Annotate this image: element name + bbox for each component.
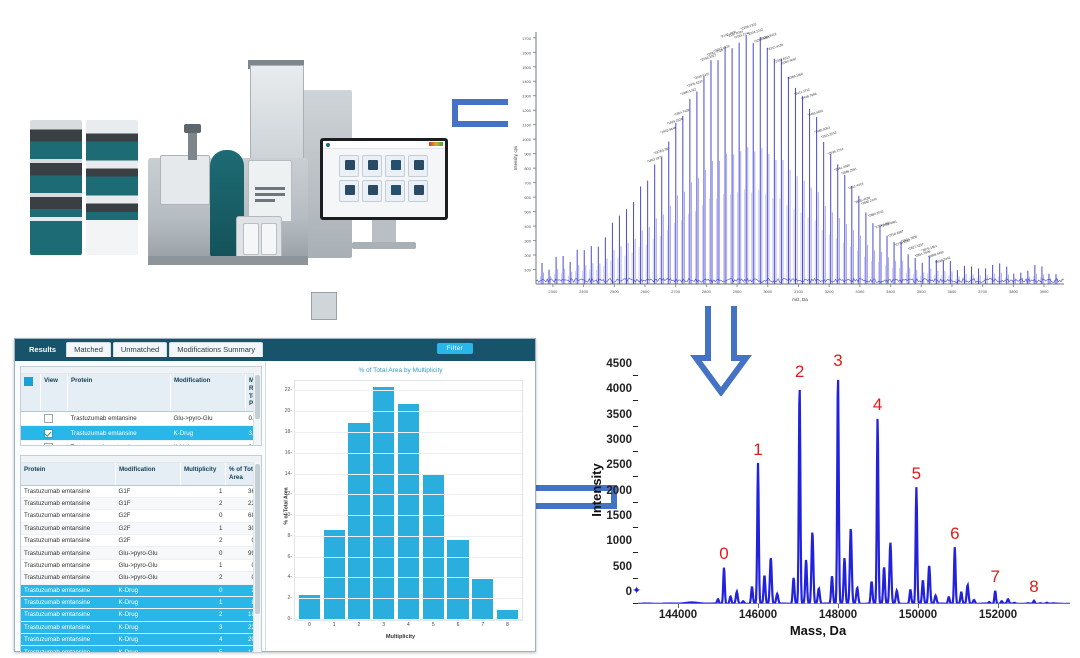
cell-multiplicity: 3 <box>181 621 226 633</box>
y-tick: 300 <box>524 239 531 244</box>
cell-protein: Trastuzumab emtansine <box>21 559 116 571</box>
cell-modification: G1F <box>116 485 181 497</box>
mass-spectrum-y-tick: 1500 <box>606 510 632 522</box>
table-row[interactable]: Trastuzumab emtansineK-Drug02.451.31e4 <box>21 584 262 596</box>
bar-chart-gridline: 16- <box>295 453 522 454</box>
lc-ms-instrument-photo <box>20 30 450 295</box>
peak-annotation: *1954.7428 <box>673 108 690 117</box>
col-modification[interactable]: Modification <box>116 463 181 485</box>
peak-label-3: 3 <box>833 351 842 371</box>
deconvoluted-mass-spectrum: Intensity 050010001500200025003000350040… <box>560 352 1076 652</box>
x-tick-mark <box>678 604 679 608</box>
y-tick: 700 <box>524 181 531 186</box>
peak-annotation: *2536.3714 <box>827 147 844 156</box>
x-tick: 3700 <box>978 289 988 294</box>
cell-modification: K-Drug <box>116 596 181 608</box>
cell-multiplicity: 2 <box>181 535 226 547</box>
peak-annotation: *2310.4135 <box>767 43 784 52</box>
x-tick-mark <box>838 604 839 608</box>
x-tick-mark <box>758 604 759 608</box>
y-tick: 1200 <box>522 108 532 113</box>
bar-chart-gridline: 22- <box>295 390 522 391</box>
cell-multiplicity: 2 <box>181 572 226 584</box>
view-checkbox[interactable] <box>44 414 53 423</box>
y-tick: 1000 <box>522 137 532 142</box>
cell-protein: Trastuzumab emtansine <box>21 522 116 534</box>
bar-chart-y-tick: 22- <box>285 387 292 393</box>
bar-chart-x-tick: 4 <box>407 622 410 628</box>
table-row[interactable]: Trastuzumab emtansineG2F130.661.64e5 <box>21 522 262 534</box>
bar-chart-gridline: 2- <box>295 598 522 599</box>
y-tick: 200 <box>524 253 531 258</box>
cell-multiplicity: 0 <box>181 584 226 596</box>
x-tick: 2600 <box>641 289 651 294</box>
cell-modification: G2F <box>116 535 181 547</box>
mass-spectrum-x-tick: 146000 <box>739 609 777 621</box>
y-tick-mark <box>633 552 638 553</box>
computer-monitor <box>320 138 448 220</box>
peak-annotation: *1929.3536 <box>666 117 683 126</box>
x-tick: 3500 <box>917 289 927 294</box>
y-tick-mark <box>633 375 638 376</box>
raw-spectrum-svg: 1002003004005006007008009001000110012001… <box>508 14 1074 306</box>
ms-control-panel <box>248 160 292 222</box>
cell-modification: Glu->pyro-Glu <box>116 572 181 584</box>
cell-modification: K-Drug <box>116 646 181 653</box>
bar-chart-gridline: 12- <box>295 494 522 495</box>
peak-label-6: 6 <box>950 524 959 544</box>
cell-multiplicity: 0 <box>181 510 226 522</box>
x-tick: 2800 <box>702 289 712 294</box>
mass-spectrum-x-tick: 150000 <box>899 609 937 621</box>
tables-pane: View Protein Modification Mean Ratio To … <box>15 361 265 651</box>
bar-chart-y-tick: 2- <box>288 595 292 601</box>
mass-spectrum-y-tick: 2000 <box>606 485 632 497</box>
table-row[interactable]: Trastuzumab emtansineK-Drug218.941.01e5 <box>21 609 262 621</box>
bar[interactable]: 6 <box>447 540 468 620</box>
mass-spectrum-trace <box>638 366 1070 604</box>
peak-label-0: 0 <box>719 544 728 564</box>
modification-detail-grid[interactable]: Protein Modification Multiplicity % of T… <box>20 455 262 653</box>
mass-spectrum-x-tick: 152000 <box>979 609 1017 621</box>
bar-chart-gridline: 6- <box>295 557 522 558</box>
bar-chart-y-tick: 18- <box>285 429 292 435</box>
view-checkbox-cell[interactable] <box>41 426 68 440</box>
bar-chart-gridline: 20- <box>295 411 522 412</box>
x-tick: 2900 <box>733 289 743 294</box>
view-checkbox[interactable] <box>44 443 53 446</box>
peak-annotation: *1903.9648 <box>660 126 677 135</box>
mass-spectrum-y-tick: 500 <box>613 561 632 573</box>
software-tile-grid <box>339 155 428 202</box>
bar-chart-title: % of Total Area by Multiplicity <box>266 367 535 374</box>
bar-chart-y-tick: 0- <box>288 616 292 622</box>
ms-solvent-bottles <box>236 216 282 260</box>
cell-protein: Trastuzumab emtansine <box>21 621 116 633</box>
cell-modification: K-Drug <box>116 621 181 633</box>
y-tick-mark <box>633 578 638 579</box>
cell-multiplicity: 4 <box>181 634 226 646</box>
y-tick-mark <box>633 426 638 427</box>
detail-table-body[interactable]: Trastuzumab emtansineG1F136.931.98e5Tras… <box>21 485 262 653</box>
col-protein[interactable]: Protein <box>68 374 171 412</box>
mass-spectrum-y-tick: 3000 <box>606 434 632 446</box>
percent-total-area-by-multiplicity-chart: % of Total Area by Multiplicity % of Tot… <box>266 361 535 651</box>
cell-multiplicity: 1 <box>181 485 226 497</box>
bar-chart-y-tick: 16- <box>285 450 292 456</box>
col-view[interactable]: View <box>41 374 68 412</box>
cell-multiplicity: 1 <box>181 522 226 534</box>
cell-modification: Glu->pyro-Glu <box>116 547 181 559</box>
y-tick: 1700 <box>522 36 532 41</box>
mass-spectrum-y-axis-title: Intensity <box>589 463 604 516</box>
view-checkbox-cell[interactable] <box>41 440 68 446</box>
col-modification[interactable]: Modification <box>171 374 246 412</box>
bar-chart-x-tick: 1 <box>333 622 336 628</box>
peak-annotation: *2708.5380 <box>874 221 891 230</box>
tab-modifications-summary[interactable]: Modifications Summary <box>169 342 263 357</box>
table-row[interactable]: Trastuzumab emtansineGlu->pyro-Glu099.14… <box>21 547 262 559</box>
row-gutter <box>21 412 41 426</box>
bar-chart-plot-area: 012345678 0-2-4-6-8-10-12-14-16-18-20-22… <box>294 380 523 621</box>
x-tick: 3200 <box>825 289 835 294</box>
table-row[interactable]: Trastuzumab emtansineK-Drug514.097.55e4 <box>21 646 262 653</box>
table-row[interactable]: Trastuzumab emtansineG2F20.522.77e3 <box>21 535 262 547</box>
cell-protein: Trastuzumab emtansine <box>21 584 116 596</box>
y-tick: 1500 <box>522 65 532 70</box>
cell-multiplicity: 1 <box>181 559 226 571</box>
mass-spectrum-plot-area: 0500100015002000250030003500400045001440… <box>638 366 1070 604</box>
peak-annotation: *1853.1872 <box>646 155 663 164</box>
cell-modification: K-Drug <box>116 584 181 596</box>
monitor-stand <box>372 220 396 244</box>
cell-modification: G1F <box>116 497 181 509</box>
table-row[interactable]: Trastuzumab emtansineG1F136.931.98e5 <box>21 485 262 497</box>
x-tick: 3300 <box>855 289 865 294</box>
bar-chart-x-tick: 7 <box>481 622 484 628</box>
y-axis-title: Intensity, cps <box>513 146 518 170</box>
row-gutter <box>21 440 41 446</box>
x-tick-mark <box>918 604 919 608</box>
view-checkbox[interactable] <box>44 429 53 438</box>
y-tick: 400 <box>524 224 531 229</box>
mass-spectrum-y-tick: 4500 <box>606 358 632 370</box>
bar-chart-x-tick: 2 <box>358 622 361 628</box>
cell-protein: Trastuzumab emtansine <box>68 426 171 440</box>
bar-chart-gridline: 8- <box>295 536 522 537</box>
cell-modification: K-Linker <box>171 440 246 446</box>
y-tick: 1300 <box>522 94 532 99</box>
results-title-bar: Results Matched Unmatched Modifications … <box>15 339 535 361</box>
peak-label-5: 5 <box>912 464 921 484</box>
y-tick: 1400 <box>522 79 532 84</box>
table-row[interactable]: Trastuzumab emtansineGlu->pyro-Glu10.000… <box>21 559 262 571</box>
y-tick-mark <box>633 400 638 401</box>
y-tick-mark <box>633 502 638 503</box>
peak-annotation: *2684.2043 <box>867 209 884 218</box>
mass-spectrum-y-tick: 4000 <box>606 383 632 395</box>
x-tick: 3900 <box>1040 289 1050 294</box>
cell-protein: Trastuzumab emtansine <box>21 547 116 559</box>
spectrum-trace <box>638 380 1070 604</box>
cell-modification: Glu->pyro-Glu <box>116 559 181 571</box>
peak-annotation: *2928.3342 <box>934 256 951 265</box>
cell-protein: Trastuzumab emtansine <box>21 497 116 509</box>
peak-label-1: 1 <box>753 440 762 460</box>
cell-protein: Trastuzumab emtansine <box>68 440 171 446</box>
modification-summary-grid[interactable]: View Protein Modification Mean Ratio To … <box>20 366 262 446</box>
results-tab-strip[interactable]: Results Matched Unmatched Modifications … <box>21 342 263 357</box>
table-row[interactable]: Trastuzumab emtansineGlu->pyro-Glu0.02 <box>21 412 261 426</box>
detail-scrollbar[interactable] <box>253 462 261 652</box>
y-tick: 900 <box>524 152 531 157</box>
x-tick: 2300 <box>548 289 558 294</box>
x-tick: 3800 <box>1009 289 1019 294</box>
table-row[interactable]: Trastuzumab emtansineK-Drug420.831.12e5 <box>21 634 262 646</box>
monitor-base <box>352 242 416 249</box>
cell-multiplicity: 5 <box>181 646 226 653</box>
bar-chart-x-tick: 3 <box>382 622 385 628</box>
x-tick: 3000 <box>763 289 773 294</box>
select-all-checkbox[interactable] <box>24 377 33 386</box>
peak-label-2: 2 <box>795 362 804 382</box>
cell-protein: Trastuzumab emtansine <box>21 646 116 653</box>
bar-chart-x-axis-title: Multiplicity <box>266 634 535 640</box>
cell-protein: Trastuzumab emtansine <box>21 634 116 646</box>
y-tick: 800 <box>524 166 531 171</box>
table-row[interactable]: Trastuzumab emtansineGlu->pyro-Glu20.864… <box>21 572 262 584</box>
filter-button[interactable]: Filter <box>437 343 473 354</box>
bar-chart-gridline: 0- <box>295 619 522 620</box>
cell-protein: Trastuzumab emtansine <box>21 596 116 608</box>
summary-table[interactable]: View Protein Modification Mean Ratio To … <box>21 374 261 446</box>
cell-multiplicity: 2 <box>181 497 226 509</box>
bar-chart-y-tick: 6- <box>288 554 292 560</box>
bar-chart-y-tick: 12- <box>285 491 292 497</box>
cell-modification: G2F <box>116 510 181 522</box>
bar-series: 012345678 <box>297 381 520 620</box>
mass-spectrum-y-tick: 2500 <box>606 459 632 471</box>
peak-annotation: *1980.1322 <box>680 87 697 96</box>
table-row[interactable]: Trastuzumab emtansineK-Drug3.49 <box>21 426 261 440</box>
cell-modification: Glu->pyro-Glu <box>171 412 246 426</box>
cell-protein: Trastuzumab emtansine <box>21 572 116 584</box>
table-row[interactable]: Trastuzumab emtansineK-Drug322.411.20e5 <box>21 621 262 633</box>
bar-chart-gridline: 14- <box>295 474 522 475</box>
bar-chart-gridline: 18- <box>295 432 522 433</box>
y-tick-mark <box>633 527 638 528</box>
mass-spectrum-y-tick: 1000 <box>606 535 632 547</box>
ms-source-door <box>160 155 210 205</box>
y-tick: 600 <box>524 195 531 200</box>
table-row[interactable]: Trastuzumab emtansineG2F068.823.69e5 <box>21 510 262 522</box>
peak-label-4: 4 <box>873 395 882 415</box>
y-tick-mark <box>633 451 638 452</box>
peak-annotation: *2756.2887 <box>887 229 904 238</box>
bar-chart-x-tick: 5 <box>432 622 435 628</box>
peak-annotation: *2056.3027 <box>700 53 717 62</box>
lc-stack-illustration <box>30 120 142 255</box>
bar-chart-pane: % of Total Area by Multiplicity % of Tot… <box>265 361 535 651</box>
col-protein[interactable]: Protein <box>21 463 116 485</box>
peak-annotation: *2259.4481 <box>753 35 770 44</box>
ms-base <box>148 256 308 265</box>
peak-label-7: 7 <box>990 567 999 587</box>
cell-modification: K-Drug <box>116 634 181 646</box>
bar-chart-gridline: 4- <box>295 577 522 578</box>
peak-annotation: *2779.2087 <box>894 238 911 247</box>
mass-spectrum-x-axis-title: Mass, Da <box>560 623 1076 638</box>
peak-annotation: *2611.4416 <box>847 182 864 191</box>
cell-protein: Trastuzumab emtansine <box>21 510 116 522</box>
x-tick: 3600 <box>948 289 958 294</box>
bar-chart-y-tick: 8- <box>288 533 292 539</box>
cell-multiplicity: 0 <box>181 547 226 559</box>
table-row[interactable]: Trastuzumab emtansineK-Linker0.29 <box>21 440 261 446</box>
ms-tower <box>250 65 304 159</box>
ms-probe-cap <box>184 124 201 133</box>
y-tick: 1100 <box>522 123 531 128</box>
mass-spectrum-x-tick: 144000 <box>659 609 697 621</box>
x-tick: 2400 <box>579 289 589 294</box>
bar-chart-y-tick: 14- <box>285 471 292 477</box>
bar-chart-y-tick: 20- <box>285 408 292 414</box>
cell-protein: Trastuzumab emtansine <box>21 609 116 621</box>
x-tick-mark <box>998 604 999 608</box>
summary-header-row: View Protein Modification Mean Ratio To … <box>21 374 261 412</box>
detail-table[interactable]: Protein Modification Multiplicity % of T… <box>21 463 262 653</box>
peak-annotation: *2386.1950 <box>787 72 804 81</box>
ms-probe <box>188 130 197 160</box>
x-tick: 2500 <box>610 289 620 294</box>
x-axis-title: m/z, Da <box>792 297 808 302</box>
cell-protein: Trastuzumab emtansine <box>21 485 116 497</box>
bar-chart-x-tick: 6 <box>457 622 460 628</box>
peak-label-8: 8 <box>1029 577 1038 597</box>
peak-annotation: *2234.1012 <box>747 27 764 36</box>
bar[interactable]: 7 <box>472 579 493 620</box>
y-tick-mark <box>633 603 638 604</box>
summary-scrollbar[interactable] <box>253 373 261 445</box>
cell-multiplicity: 1 <box>181 596 226 608</box>
row-gutter <box>21 426 41 440</box>
col-multiplicity[interactable]: Multiplicity <box>181 463 226 485</box>
raw-charge-state-spectrum: 1002003004005006007008009001000110012001… <box>508 14 1074 306</box>
tab-matched[interactable]: Matched <box>66 342 111 357</box>
x-tick: 3400 <box>886 289 896 294</box>
bar-chart-y-tick: 10- <box>285 512 292 518</box>
table-row[interactable]: Trastuzumab emtansineG1F223.041.23e5 <box>21 497 262 509</box>
bar[interactable]: 4 <box>398 404 419 620</box>
cell-protein: Trastuzumab emtansine <box>68 412 171 426</box>
y-tick-mark <box>633 476 638 477</box>
bar[interactable]: 3 <box>373 387 394 620</box>
detail-header-row: Protein Modification Multiplicity % of T… <box>21 463 262 485</box>
summary-table-body[interactable]: Trastuzumab emtansineGlu->pyro-Glu0.02Tr… <box>21 412 261 447</box>
cell-modification: K-Drug <box>116 609 181 621</box>
mass-spectrum-y-tick: 3500 <box>606 409 632 421</box>
y-tick: 100 <box>524 268 531 273</box>
cell-modification: G2F <box>116 522 181 534</box>
bar-chart-x-tick: 0 <box>308 622 311 628</box>
results-window: Results Matched Unmatched Modifications … <box>14 338 536 652</box>
cell-modification: K-Drug <box>171 426 246 440</box>
view-checkbox-cell[interactable] <box>41 412 68 426</box>
bar[interactable]: 1 <box>324 530 345 620</box>
table-row[interactable]: Trastuzumab emtansineK-Drug18.674.64e4 <box>21 596 262 608</box>
cell-protein: Trastuzumab emtansine <box>21 535 116 547</box>
y-tick: 500 <box>524 210 531 215</box>
bar-chart-gridline: 10- <box>295 515 522 516</box>
origin-marker: ✦ <box>632 584 641 597</box>
mass-spectrum-x-tick: 148000 <box>819 609 857 621</box>
bar-chart-x-tick: 8 <box>506 622 509 628</box>
x-tick: 2700 <box>671 289 681 294</box>
bar-chart-y-tick: 4- <box>288 574 292 580</box>
x-tick: 3100 <box>794 289 804 294</box>
tab-results[interactable]: Results <box>21 342 64 357</box>
cell-multiplicity: 2 <box>181 609 226 621</box>
y-tick: 1600 <box>522 50 532 55</box>
tab-unmatched[interactable]: Unmatched <box>113 342 167 357</box>
